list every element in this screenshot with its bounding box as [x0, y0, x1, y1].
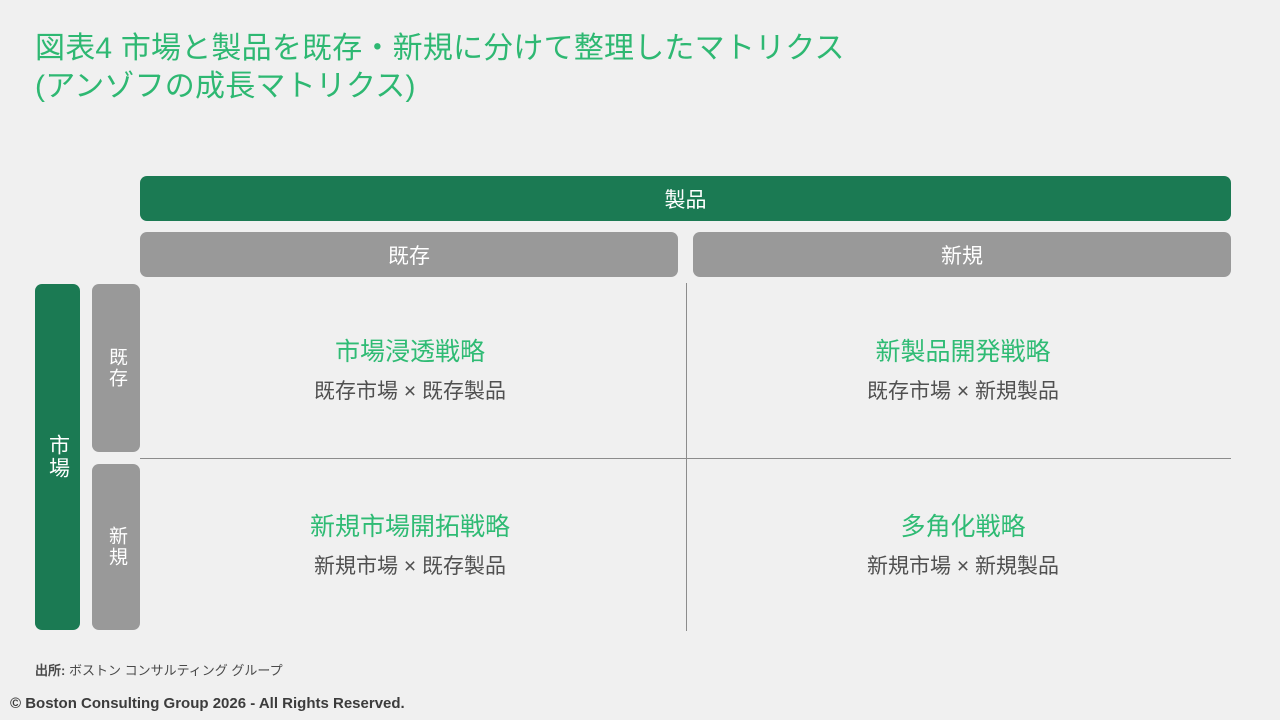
market-existing-header: 既存: [92, 284, 140, 452]
product-axis-label: 製品: [665, 184, 707, 214]
matrix-cell-diversification: 多角化戦略 新規市場 × 新規製品: [693, 462, 1233, 630]
source-value: ボストン コンサルティング グループ: [65, 663, 282, 678]
product-existing-header: 既存: [140, 232, 678, 277]
cell-title: 多角化戦略: [900, 511, 1025, 543]
cell-subtitle: 新規市場 × 新規製品: [867, 553, 1059, 581]
product-axis-header: 製品: [140, 176, 1231, 221]
market-new-label: 新規: [106, 526, 126, 568]
market-axis-label: 市場: [46, 434, 68, 480]
source-note: 出所: ボストン コンサルティング グループ: [35, 660, 283, 679]
product-new-header: 新規: [693, 232, 1231, 277]
matrix-horizontal-divider: [140, 458, 1231, 459]
cell-subtitle: 新規市場 × 既存製品: [314, 553, 506, 581]
cell-title: 新製品開発戦略: [875, 336, 1050, 368]
market-existing-label: 既存: [106, 347, 126, 389]
cell-title: 新規市場開拓戦略: [310, 511, 510, 543]
matrix-cell-market-penetration: 市場浸透戦略 既存市場 × 既存製品: [140, 285, 680, 457]
product-new-label: 新規: [941, 240, 983, 270]
matrix-cell-market-development: 新規市場開拓戦略 新規市場 × 既存製品: [140, 462, 680, 630]
cell-subtitle: 既存市場 × 既存製品: [314, 378, 506, 406]
product-existing-label: 既存: [388, 240, 430, 270]
copyright-notice: © Boston Consulting Group 2026 - All Rig…: [10, 695, 405, 712]
matrix-vertical-divider: [686, 283, 687, 631]
source-label: 出所:: [35, 663, 65, 678]
matrix-cell-product-development: 新製品開発戦略 既存市場 × 新規製品: [693, 285, 1233, 457]
ansoff-matrix: 製品 既存 新規 市場 既存 新規 市場浸透戦略 既存市場 × 既存製品 新製品…: [0, 0, 1280, 720]
cell-title: 市場浸透戦略: [335, 336, 485, 368]
market-new-header: 新規: [92, 464, 140, 630]
cell-subtitle: 既存市場 × 新規製品: [867, 378, 1059, 406]
market-axis-header: 市場: [35, 284, 80, 630]
